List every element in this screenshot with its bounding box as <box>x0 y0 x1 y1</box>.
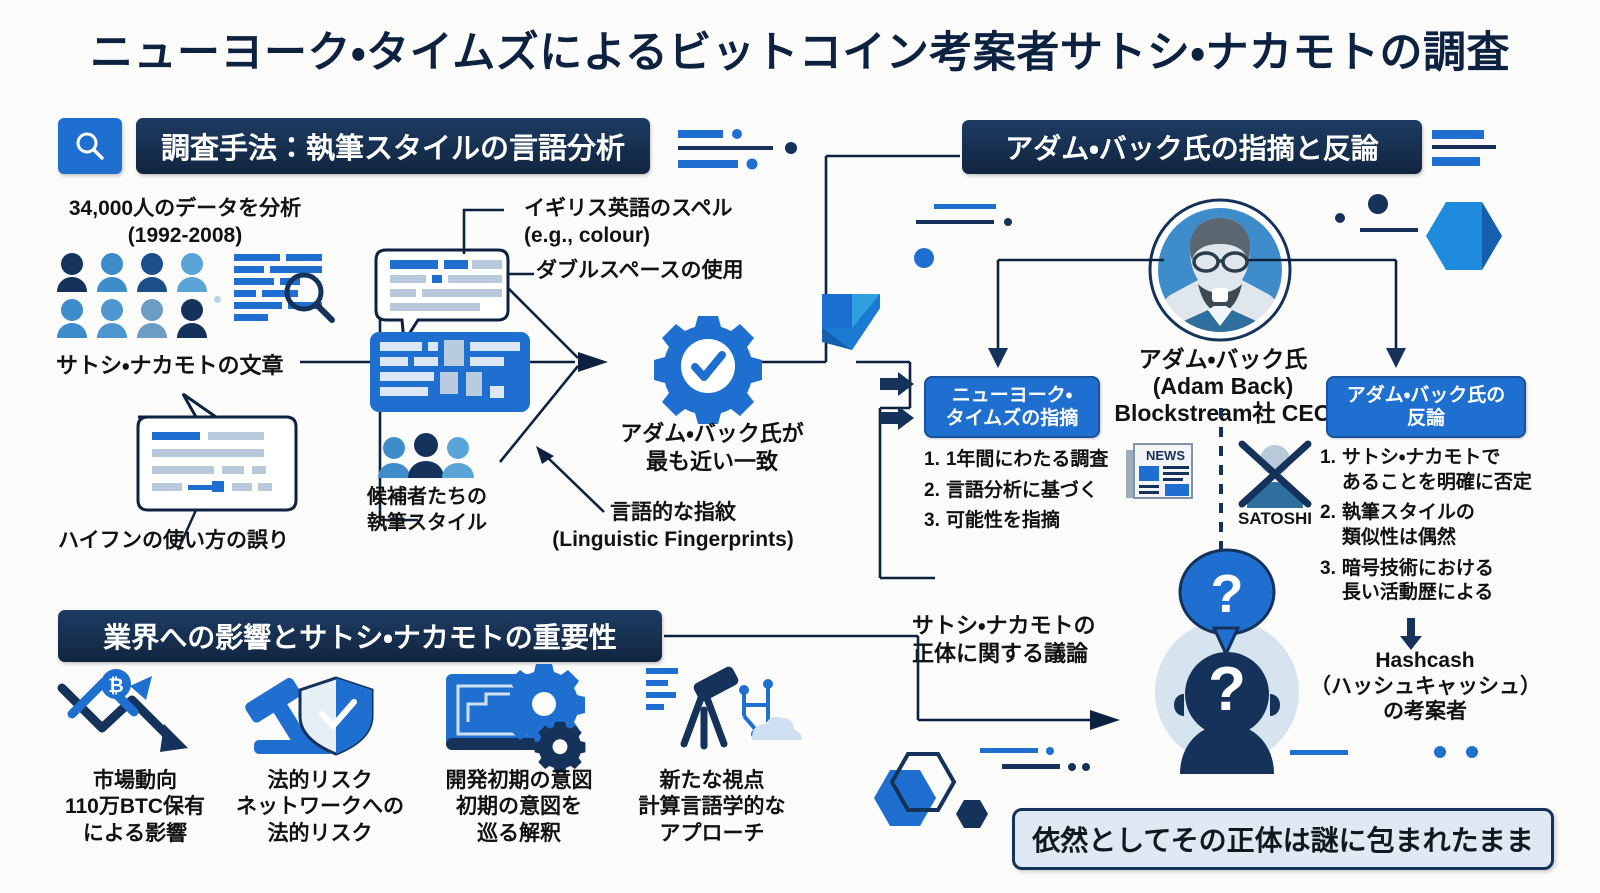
adam-back-claim-line2: 長い活動歴による <box>1342 581 1494 606</box>
section-banner-impact: 業界への影響とサトシ・ナカモトの重要性 <box>58 610 662 662</box>
label-candidates-style: 候補者たちの 執筆スタイル <box>352 485 502 536</box>
adam-back-claim-text: サトシ・ナカモトで あることを明確に否定 <box>1342 446 1532 495</box>
nyt-claim-box-line2: タイムズの指摘 <box>946 407 1079 430</box>
decor-dots-right-avatar <box>1334 196 1424 246</box>
label-data-analyzed: 34,000人のデータを分析 (1992-2008) <box>40 196 330 250</box>
hashcash-label: Hashcash （ハッシュキャッシュ） の考案者 <box>1310 648 1540 725</box>
verified-gear-icon <box>654 312 762 420</box>
adam-back-rebuttal-box-line2: 反論 <box>1347 407 1505 430</box>
impact-item-2-line2: 巡る解釈 <box>424 821 614 847</box>
impact-item-0: 市場動向 110万BTC保有 による影響 <box>50 768 220 847</box>
page-title: ニューヨーク・タイムズによるビットコイン考案者サトシ・ナカモトの調査 <box>0 18 1600 80</box>
section-banner-rebuttal: アダム・バック氏の指摘と反論 <box>962 120 1422 174</box>
decor-dashes-bottom-right <box>1290 744 1490 774</box>
search-icon-chip <box>58 118 122 174</box>
impact-item-0-line1: 110万BTC保有 <box>50 794 220 820</box>
hashcash-line2: （ハッシュキャッシュ） <box>1310 674 1540 700</box>
adam-back-claim-line1: 暗号技術における <box>1342 557 1494 582</box>
adam-back-claim-num: 2. <box>1320 501 1336 550</box>
hyphen-error-bubble-icon <box>108 392 308 522</box>
adam-back-claim-line2: 類似性は偶然 <box>1342 526 1475 551</box>
impact-item-2: 開発初期の意図 初期の意図を 巡る解釈 <box>424 768 614 847</box>
label-british-spelling-line2: (e.g., colour) <box>524 223 733 250</box>
nyt-claim-num: 2. <box>924 479 940 504</box>
conclusion-text: 依然としてその正体は謎に包まれたまま <box>1032 819 1533 859</box>
adam-back-claim-line2: あることを明確に否定 <box>1342 471 1532 496</box>
people-group-icon <box>52 250 242 340</box>
impact-item-0-line2: による影響 <box>50 821 220 847</box>
double-arrow-nyt <box>880 372 916 436</box>
avatar-branch-lines <box>986 256 1426 376</box>
person-question-glyph: ? <box>1208 655 1246 724</box>
adam-back-claims-list: 1. サトシ・ナカモトで あることを明確に否定 2. 執筆スタイルの 類似性は偶… <box>1320 446 1550 612</box>
bitcoin-glyph: ₿ <box>108 676 123 697</box>
adam-back-claim-text: 執筆スタイルの 類似性は偶然 <box>1342 501 1475 550</box>
news-label: NEWS <box>1146 448 1185 463</box>
adam-back-claim-line1: 執筆スタイルの <box>1342 501 1475 526</box>
label-data-analyzed-line1: 34,000人のデータを分析 <box>40 196 330 223</box>
nyt-claim-box[interactable]: ニューヨーク・ タイムズの指摘 <box>924 376 1100 438</box>
impact-item-1-title: 法的リスク <box>232 768 408 794</box>
conclusion-banner: 依然としてその正体は謎に包まれたまま <box>1012 808 1554 870</box>
market-trend-bitcoin-icon: ₿ <box>56 668 206 760</box>
decor-dashes-bottom <box>980 744 1120 780</box>
adam-back-claim-text: 暗号技術における 長い活動歴による <box>1342 557 1494 606</box>
nyt-claim-item: 3. 可能性を指摘 <box>924 509 1134 534</box>
impact-item-3-line2: アプローチ <box>624 821 800 847</box>
adam-back-name-en: (Adam Back) <box>1078 373 1368 400</box>
adam-back-rebuttal-box[interactable]: アダム・バック氏の 反論 <box>1326 376 1526 438</box>
decor-dot <box>214 296 221 303</box>
impact-item-2-line1: 初期の意図を <box>424 794 614 820</box>
search-icon <box>73 129 107 163</box>
telescope-network-icon <box>640 660 796 760</box>
adam-back-claim-item: 2. 執筆スタイルの 類似性は偶然 <box>1320 501 1550 550</box>
impact-item-2-title: 開発初期の意図 <box>424 768 614 794</box>
nyt-claim-item: 2. 言語分析に基づく <box>924 479 1134 504</box>
section-banner-method: 調査手法：執筆スタイルの言語分析 <box>136 118 650 174</box>
nyt-claim-text: 言語分析に基づく <box>946 479 1098 504</box>
blueprint-gears-icon <box>440 660 590 760</box>
infographic-canvas: ニューヨーク・タイムズによるビットコイン考案者サトシ・ナカモトの調査 調査手法：… <box>0 0 1600 893</box>
section-banner-impact-label: 業界への影響とサトシ・ナカモトの重要性 <box>103 616 617 656</box>
adam-back-rebuttal-box-line1: アダム・バック氏の <box>1347 384 1505 407</box>
adam-back-claim-line1: サトシ・ナカモトで <box>1342 446 1532 471</box>
label-satoshi-writing: サトシ・ナカモトの文章 <box>56 352 283 380</box>
news-paper-icon: NEWS <box>1126 440 1196 502</box>
candidates-group-icon <box>376 432 476 488</box>
satoshi-crossed-out-icon <box>1236 438 1314 512</box>
label-data-analyzed-line2: (1992-2008) <box>40 223 330 250</box>
adam-back-claim-item: 3. 暗号技術における 長い活動歴による <box>1320 557 1550 606</box>
adam-back-claim-item: 1. サトシ・ナカモトで あることを明確に否定 <box>1320 446 1550 495</box>
label-double-space: ダブルスペースの使用 <box>536 258 743 285</box>
impact-item-3-line1: 計算言語学的な <box>624 794 800 820</box>
nyt-claim-num: 3. <box>924 509 940 534</box>
nyt-claim-text: 可能性を指摘 <box>946 509 1060 534</box>
bubble-question-glyph: ? <box>1211 564 1244 624</box>
nyt-claim-box-line1: ニューヨーク・ <box>946 384 1079 407</box>
nyt-claims-list: 1. 1年間にわたる調査 2. 言語分析に基づく 3. 可能性を指摘 <box>924 448 1134 540</box>
satoshi-crossed-label: SATOSHI <box>1220 508 1330 530</box>
gavel-shield-legal-icon <box>240 664 390 760</box>
nyt-claim-item: 1. 1年間にわたる調査 <box>924 448 1134 473</box>
adam-back-claim-num: 1. <box>1320 446 1336 495</box>
question-mark-person-icon: ? ? <box>1122 552 1332 774</box>
label-british-spelling-line1: イギリス英語のスペル <box>524 196 733 223</box>
impact-item-1-line2: 法的リスク <box>232 821 408 847</box>
hexagon-blue-icon <box>1424 198 1510 294</box>
hashcash-down-arrow <box>1396 618 1426 652</box>
impact-item-3: 新たな視点 計算言語学的な アプローチ <box>624 768 800 847</box>
hashcash-line1: Hashcash <box>1310 648 1540 674</box>
blue-cube-icon <box>822 294 882 366</box>
impact-item-0-title: 市場動向 <box>50 768 220 794</box>
nyt-claim-num: 1. <box>924 448 940 473</box>
impact-item-1-line1: ネットワークへの <box>232 794 408 820</box>
label-hyphen-misuse: ハイフンの使い方の誤り <box>58 528 289 555</box>
label-british-spelling: イギリス英語のスペル (e.g., colour) <box>524 196 733 250</box>
candidate-writing-block-icon <box>370 332 530 412</box>
decor-dashes-rebuttal <box>1432 126 1512 176</box>
impact-item-3-title: 新たな視点 <box>624 768 800 794</box>
hashcash-line3: の考案者 <box>1310 699 1540 725</box>
label-candidates-style-line2: 執筆スタイル <box>352 511 502 537</box>
decor-hexagons <box>868 742 978 842</box>
impact-item-1: 法的リスク ネットワークへの 法的リスク <box>232 768 408 847</box>
nyt-claim-text: 1年間にわたる調査 <box>946 448 1109 473</box>
label-candidates-style-line1: 候補者たちの <box>352 485 502 511</box>
